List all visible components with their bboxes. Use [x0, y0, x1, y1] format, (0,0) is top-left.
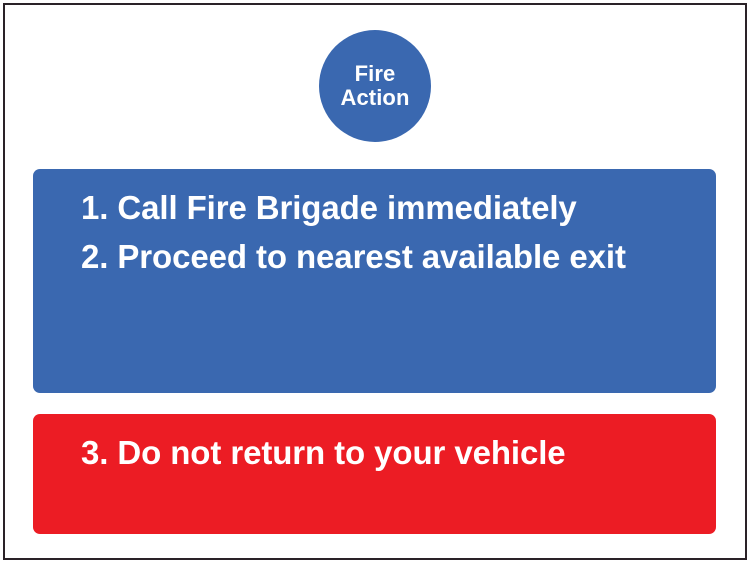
- instruction-item-2: 2. Proceed to nearest available exit: [81, 236, 696, 279]
- roundel-line-2: Action: [340, 86, 409, 110]
- instruction-panel-red: 3. Do not return to your vehicle: [33, 414, 716, 534]
- instruction-item-1: 1. Call Fire Brigade immediately: [81, 187, 696, 230]
- fire-action-roundel: Fire Action: [319, 30, 431, 142]
- fire-action-sign: Fire Action 1. Call Fire Brigade immedia…: [0, 0, 750, 563]
- instruction-item-3: 3. Do not return to your vehicle: [81, 432, 696, 475]
- roundel-line-1: Fire: [355, 62, 396, 86]
- instruction-panel-blue: 1. Call Fire Brigade immediately 2. Proc…: [33, 169, 716, 393]
